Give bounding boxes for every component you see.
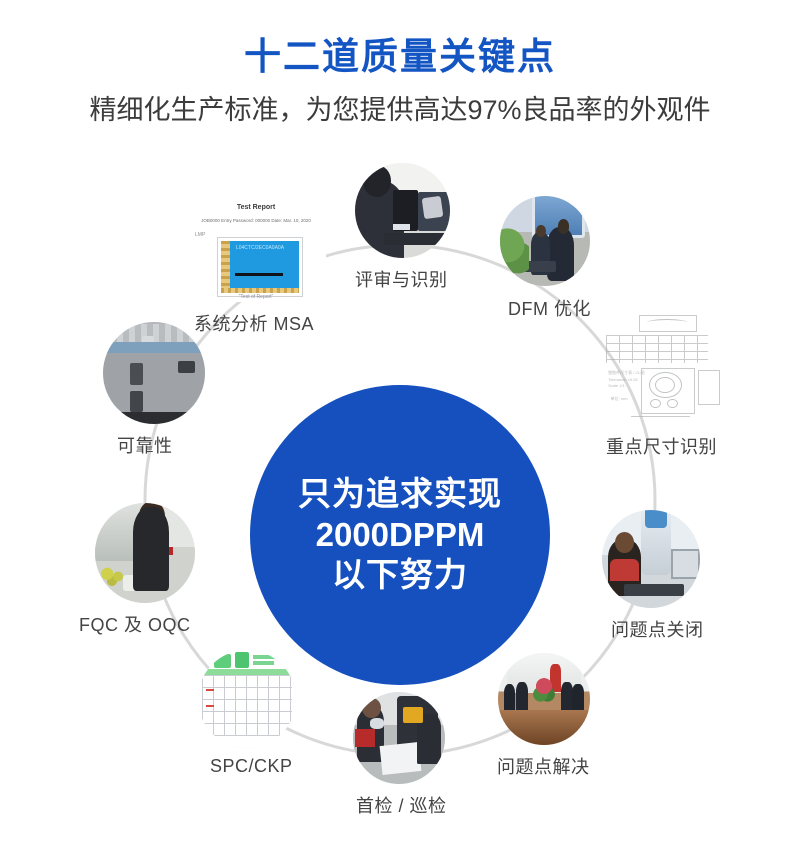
center-goal-circle: 只为追求实现 2000DPPM 以下努力	[250, 385, 550, 685]
node-spc-ckp[interactable]: SPC/CKP	[198, 650, 296, 748]
drawing-note-4: 单位: mm	[611, 396, 628, 402]
specimen-bar	[235, 273, 283, 276]
node-label-msa: 系统分析 MSA	[194, 310, 314, 336]
node-label-first-patrol: 首检 / 巡检	[356, 792, 447, 818]
drawing-note-1: 塑胶件尺寸表 / CL图	[608, 370, 644, 376]
report-photo: L04CTC/2EC0A0A0A	[218, 238, 302, 296]
node-label-review: 评审与识别	[355, 266, 448, 292]
report-caption: "Test of Report"	[239, 294, 274, 300]
node-issue-solve[interactable]: 问题点解决	[498, 653, 590, 745]
center-line-1: 只为追求实现	[298, 474, 502, 515]
cmm-measurement-photo	[602, 510, 700, 608]
ruler-horizontal-icon	[221, 288, 299, 293]
node-fqc-oqc[interactable]: FQC 及 OQC	[95, 503, 195, 603]
node-label-dfm: DFM 优化	[508, 295, 591, 321]
drawing-note-3: Scale 1/1	[608, 383, 625, 388]
node-issue-close[interactable]: 问题点关闭	[602, 510, 700, 608]
node-label-key-dimension: 重点尺寸识别	[606, 433, 717, 459]
node-dfm[interactable]: DFM 优化	[500, 196, 590, 286]
report-title: Test Report	[237, 204, 275, 211]
meeting-room-photo	[498, 653, 590, 745]
page-title: 十二道质量关键点	[0, 38, 800, 75]
quality-infographic: 十二道质量关键点 精细化生产标准，为您提供高达97%良品率的外观件 只为追求实现…	[0, 0, 800, 860]
spc-control-sheet	[198, 650, 296, 748]
environmental-chamber-photo	[103, 322, 205, 424]
page-subtitle: 精细化生产标准，为您提供高达97%良品率的外观件	[0, 97, 800, 124]
office-review-photo	[355, 163, 450, 258]
dfm-team-photo	[500, 196, 590, 286]
fqc-operator-photo	[95, 503, 195, 603]
ruler-vertical-icon	[221, 241, 230, 293]
node-label-reliability: 可靠性	[117, 432, 173, 458]
shopfloor-inspection-photo	[353, 692, 445, 784]
report-meta: JOB0000 Entry Password: 000000 Date: Mar…	[201, 218, 311, 223]
node-label-spc-ckp: SPC/CKP	[210, 756, 293, 777]
report-side-label: LMP	[195, 232, 205, 238]
center-line-3: 以下努力	[332, 555, 468, 596]
node-review[interactable]: 评审与识别	[355, 163, 450, 258]
report-image-caption: L04CTC/2EC0A0A0A	[236, 245, 284, 251]
technical-drawing: 塑胶件尺寸表 / CL图 Tolerance: ±0.05 Scale 1/1 …	[603, 315, 731, 425]
node-label-issue-solve: 问题点解决	[497, 753, 590, 779]
node-label-fqc-oqc: FQC 及 OQC	[79, 611, 191, 637]
header: 十二道质量关键点 精细化生产标准，为您提供高达97%良品率的外观件	[0, 0, 800, 124]
test-report-document: Test Report JOB0000 Entry Password: 0000…	[186, 192, 326, 302]
node-first-patrol[interactable]: 首检 / 巡检	[353, 692, 445, 784]
drawing-note-2: Tolerance: ±0.05	[608, 377, 638, 382]
node-label-issue-close: 问题点关闭	[611, 616, 704, 642]
node-reliability[interactable]: 可靠性	[103, 322, 205, 424]
center-line-2: 2000DPPM	[316, 515, 485, 556]
